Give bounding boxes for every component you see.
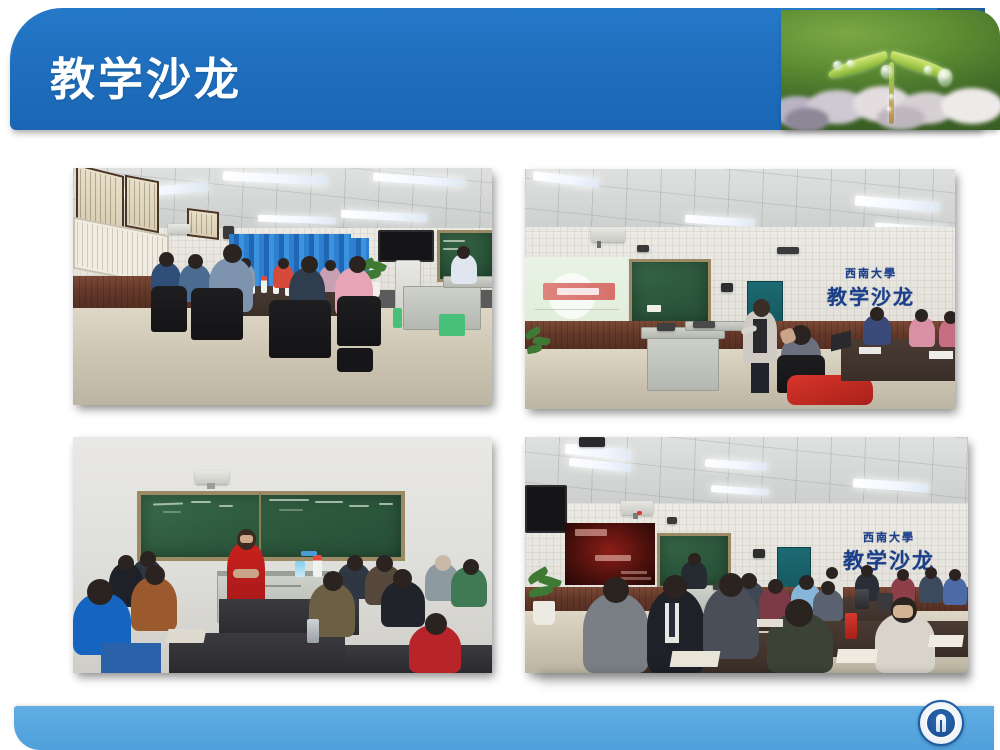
southwest-university-seal-icon (918, 700, 964, 746)
wall-text-university: 西南大學 (845, 265, 897, 281)
footer-band (14, 706, 994, 750)
photo-2-scene: 西南大學 教学沙龙 (525, 169, 955, 409)
seal-inner-mark (926, 708, 956, 738)
wall-text-salon: 教学沙龙 (827, 281, 915, 310)
footer-shadow (540, 672, 970, 690)
presentation-slide: 教学沙龙 (0, 0, 1000, 750)
photo-seminar-roundtable (73, 168, 492, 405)
screen-text-label (557, 288, 599, 295)
sprout-with-dew-photo (781, 10, 1000, 130)
wall-text-university-2: 西南大學 (863, 529, 915, 545)
photo-lecturer-red-dress (73, 437, 492, 673)
photo-3-scene (73, 437, 492, 673)
page-title: 教学沙龙 (50, 52, 242, 108)
photo-classroom-presenter: 西南大學 教学沙龙 (525, 169, 955, 409)
photo-large-seminar: 西南大學 教学沙龙 (525, 437, 968, 673)
photo-4-scene: 西南大學 教学沙龙 (525, 437, 968, 673)
photo-1-scene (73, 168, 492, 405)
wall-text-salon-2: 教学沙龙 (843, 545, 935, 575)
